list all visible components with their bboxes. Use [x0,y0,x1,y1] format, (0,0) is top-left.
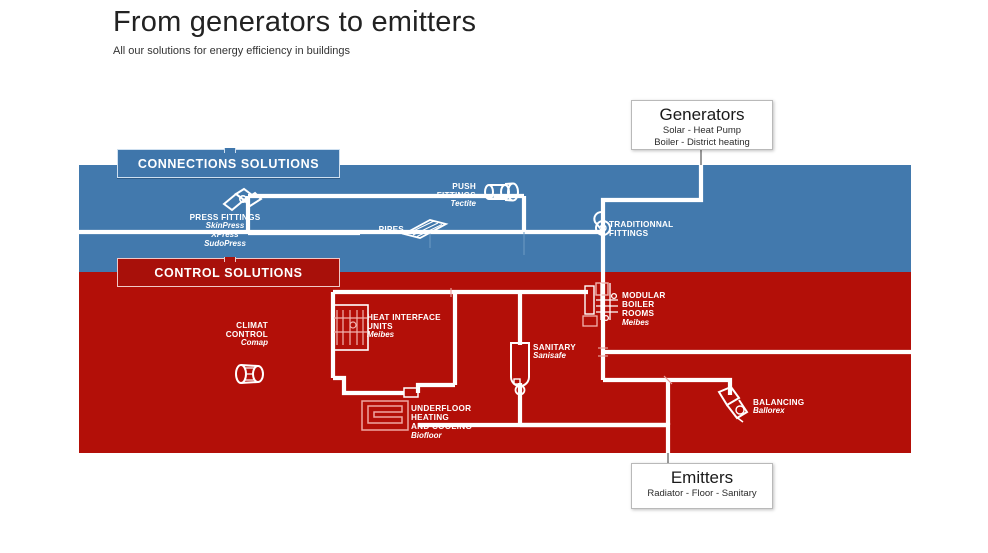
label-climat-control: CLIMAT CONTROL Comap [192,321,268,348]
press-fitting-icon [224,189,261,210]
banner-control-solutions[interactable]: CONTROL SOLUTIONS [117,258,340,287]
label-sanitary: SANITARY Sanisafe [533,343,593,361]
boiler-title1: MODULAR BOILER [622,291,696,309]
thermostat-valve-icon [236,365,263,383]
label-balancing: BALANCING Ballorex [753,398,813,416]
hiu-title1: HEAT INTERFACE [367,313,447,322]
connections-pipe-network [79,165,701,272]
balancing-valve-icon [719,387,747,422]
underfloor-brand: Biofloor [411,432,501,441]
boiler-brand: Meibes [622,319,696,328]
generators-title: Generators [632,104,772,125]
generators-line1: Solar - Heat Pump [632,125,772,137]
traditional-fittings-title1: TRADITIONNAL [609,220,679,229]
sanitary-tank-icon [511,343,529,395]
banner-connections-label: CONNECTIONS SOLUTIONS [138,157,319,171]
banner-connections-solutions[interactable]: CONNECTIONS SOLUTIONS [117,149,340,178]
climat-control-brand: Comap [192,339,268,348]
banner-notch [224,257,236,262]
emitters-box[interactable]: Emitters Radiator - Floor - Sanitary [631,463,773,509]
label-modular-boiler-rooms: MODULAR BOILER ROOMS Meibes [622,291,696,328]
modular-boiler-room-icon [583,283,618,326]
pipe-bundle-icon [404,220,446,238]
banner-control-label: CONTROL SOLUTIONS [154,266,302,280]
push-fittings-title: PUSH FITTINGS [414,182,476,200]
label-underfloor-heating: UNDERFLOOR HEATING AND COOLING Biofloor [411,404,501,441]
underfloor-title1: UNDERFLOOR HEATING [411,404,501,422]
balancing-brand: Ballorex [753,407,813,416]
banner-notch [224,148,236,153]
label-press-fittings: PRESS FITTINGS SkinPress XPress SudoPres… [186,213,264,249]
emitters-title: Emitters [632,467,772,488]
emitters-line1: Radiator - Floor - Sanitary [632,488,772,500]
hiu-brand: Meibes [367,331,447,340]
press-fittings-brand3: SudoPress [186,240,264,249]
push-fittings-brand: Tectite [414,200,476,209]
pipes-title: PIPES [370,225,404,234]
generators-box[interactable]: Generators Solar - Heat Pump Boiler - Di… [631,100,773,150]
label-heat-interface-units: HEAT INTERFACE UNITS Meibes [367,313,447,340]
climat-control-title: CLIMAT CONTROL [192,321,268,339]
label-pipes: PIPES [370,225,404,234]
traditional-fittings-title2: FITTINGS [609,229,679,238]
label-push-fittings: PUSH FITTINGS Tectite [414,182,476,209]
label-traditional-fittings: TRADITIONNAL FITTINGS [609,220,679,238]
heat-interface-unit-icon [333,305,368,350]
sanitary-brand: Sanisafe [533,352,593,361]
generators-line2: Boiler - District heating [632,137,772,149]
